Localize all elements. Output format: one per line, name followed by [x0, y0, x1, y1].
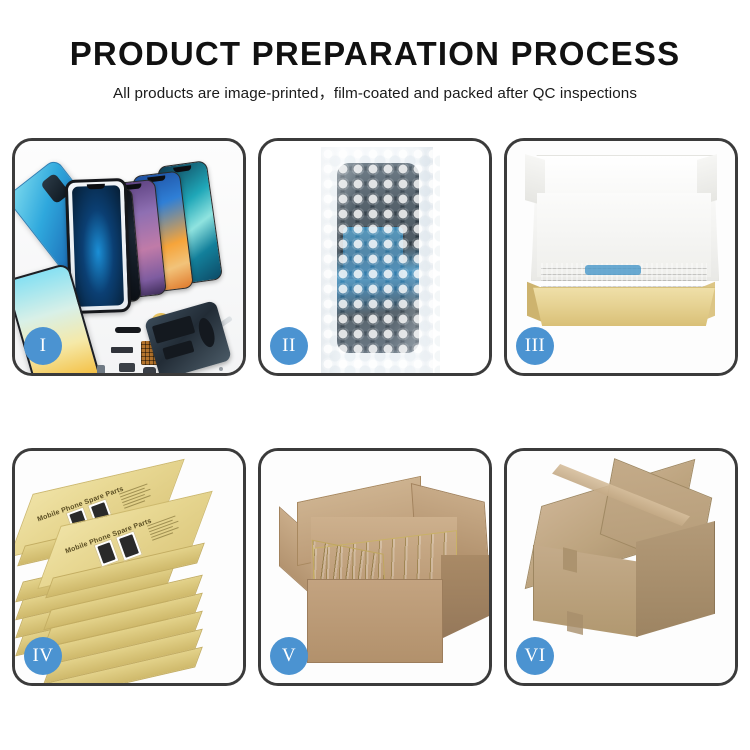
header: PRODUCT PREPARATION PROCESS All products… [0, 0, 750, 103]
flex-connector-icon [111, 347, 133, 353]
carton-seam-upper [563, 547, 577, 572]
small-module-part-icon [119, 363, 135, 372]
step-badge-6: VI [516, 637, 554, 675]
step-panel-2[interactable]: II [258, 138, 492, 376]
step-panel-6[interactable]: VI [504, 448, 738, 686]
process-steps-grid: I II [12, 138, 738, 686]
carton-seam-lower [567, 611, 583, 635]
page-subtitle: All products are image-printed，film-coat… [0, 72, 750, 103]
sim-tray-part-icon [97, 365, 105, 373]
step-badge-4: IV [24, 637, 62, 675]
step-badge-5: V [270, 637, 308, 675]
speaker-part-icon [115, 327, 141, 333]
step-badge-3: III [516, 327, 554, 365]
step-panel-4[interactable]: Mobile Phone Spare Parts Mobile Phone Sp… [12, 448, 246, 686]
plastic-gloss-overlay [321, 147, 433, 373]
kraft-tray-image [533, 287, 715, 326]
step-badge-2: II [270, 327, 308, 365]
page-title: PRODUCT PREPARATION PROCESS [0, 0, 750, 72]
product-preparation-infographic: PRODUCT PREPARATION PROCESS All products… [0, 0, 750, 750]
step-badge-1: I [24, 327, 62, 365]
step-panel-1[interactable]: I [12, 138, 246, 376]
step-panel-5[interactable]: V [258, 448, 492, 686]
step-panel-3[interactable]: III [504, 138, 738, 376]
camera-module-part-icon [143, 367, 156, 373]
carton-front-face [307, 579, 443, 663]
